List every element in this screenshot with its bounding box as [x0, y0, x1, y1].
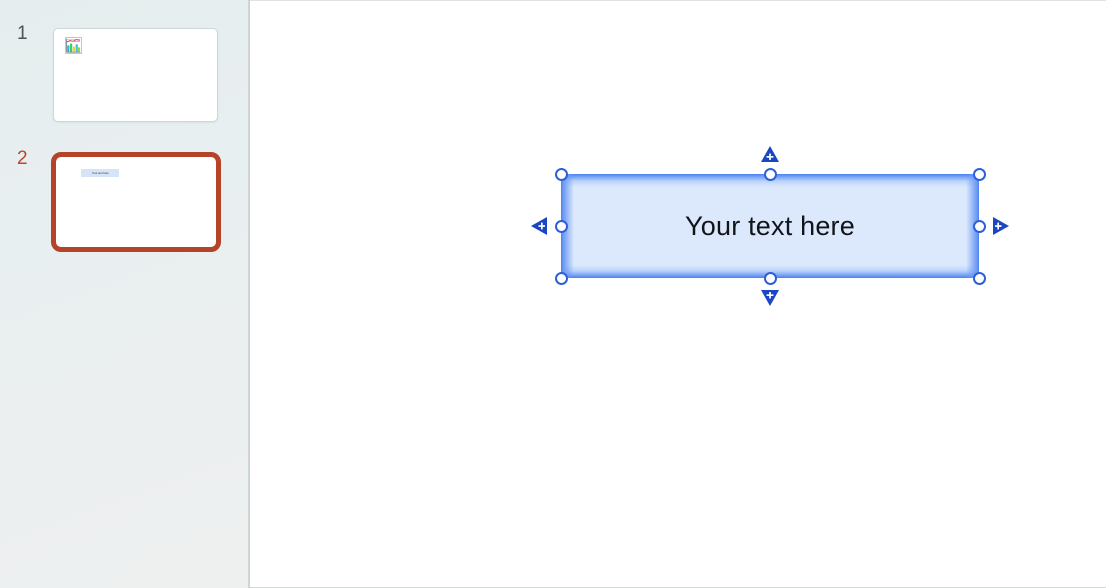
resize-handle-bottom-left[interactable]	[555, 272, 568, 285]
presentation-editor-window: 1	[0, 0, 1106, 588]
slide-canvas[interactable]: Your text here	[250, 0, 1106, 588]
slide-panel-entry-2[interactable]: 2 Your text here	[0, 130, 250, 260]
slide-surface[interactable]: Your text here	[250, 1, 1106, 587]
resize-handle-bottom-center[interactable]	[764, 272, 777, 285]
resize-handle-middle-right[interactable]	[973, 220, 986, 233]
grow-down-icon[interactable]	[759, 286, 781, 308]
text-box[interactable]: Your text here	[561, 174, 979, 278]
slide-number-1: 1	[17, 24, 28, 43]
resize-handle-top-right[interactable]	[973, 168, 986, 181]
grow-right-icon[interactable]	[989, 215, 1011, 237]
slide-number-2: 2	[17, 149, 28, 168]
bar-chart-icon	[65, 37, 82, 54]
slide-panel[interactable]: 1	[0, 0, 250, 588]
thumbnail-textbox-label: Your text here	[91, 172, 108, 175]
resize-handle-top-center[interactable]	[764, 168, 777, 181]
grow-up-icon[interactable]	[759, 144, 781, 166]
resize-handle-bottom-right[interactable]	[973, 272, 986, 285]
grow-left-icon[interactable]	[529, 215, 551, 237]
thumbnail-textbox: Your text here	[81, 169, 119, 177]
text-box-label[interactable]: Your text here	[561, 174, 979, 278]
slide-panel-entry-1[interactable]: 1	[0, 0, 250, 130]
resize-handle-top-left[interactable]	[555, 168, 568, 181]
slide-thumbnail-2[interactable]: Your text here	[51, 152, 221, 252]
resize-handle-middle-left[interactable]	[555, 220, 568, 233]
slide-thumbnail-1[interactable]	[53, 28, 218, 122]
